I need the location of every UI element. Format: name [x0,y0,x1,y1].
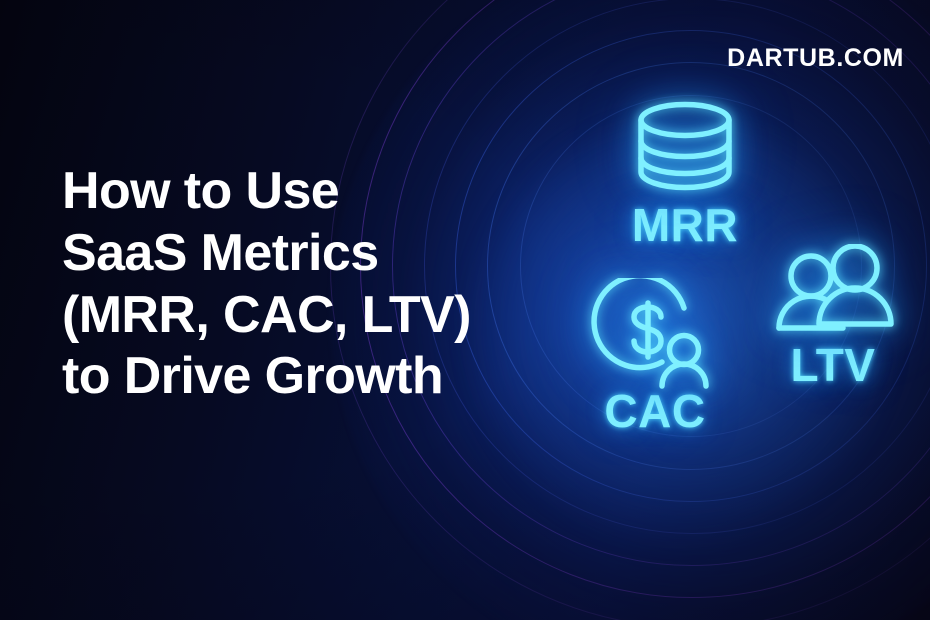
site-logo: DARTUB.COM [727,44,904,73]
metric-mrr: MRR [592,100,778,248]
metric-cac-label: CAC [604,388,705,434]
page-title-line-3: (MRR, CAC, LTV) [62,285,532,347]
promo-banner: DARTUB.COM How to Use SaaS Metrics (MRR,… [0,0,930,620]
database-stack-icon [627,100,743,198]
two-people-icon [769,244,897,340]
metric-cac: CAC [565,278,745,434]
metric-ltv: LTV [748,244,918,388]
page-title: How to Use SaaS Metrics (MRR, CAC, LTV) … [62,161,532,409]
page-title-line-1: How to Use [62,161,532,223]
page-title-line-4: to Drive Growth [62,346,532,408]
page-title-line-2: SaaS Metrics [62,223,532,285]
dollar-circle-person-icon [589,278,721,390]
metric-ltv-label: LTV [791,342,876,388]
metric-mrr-label: MRR [632,202,738,248]
